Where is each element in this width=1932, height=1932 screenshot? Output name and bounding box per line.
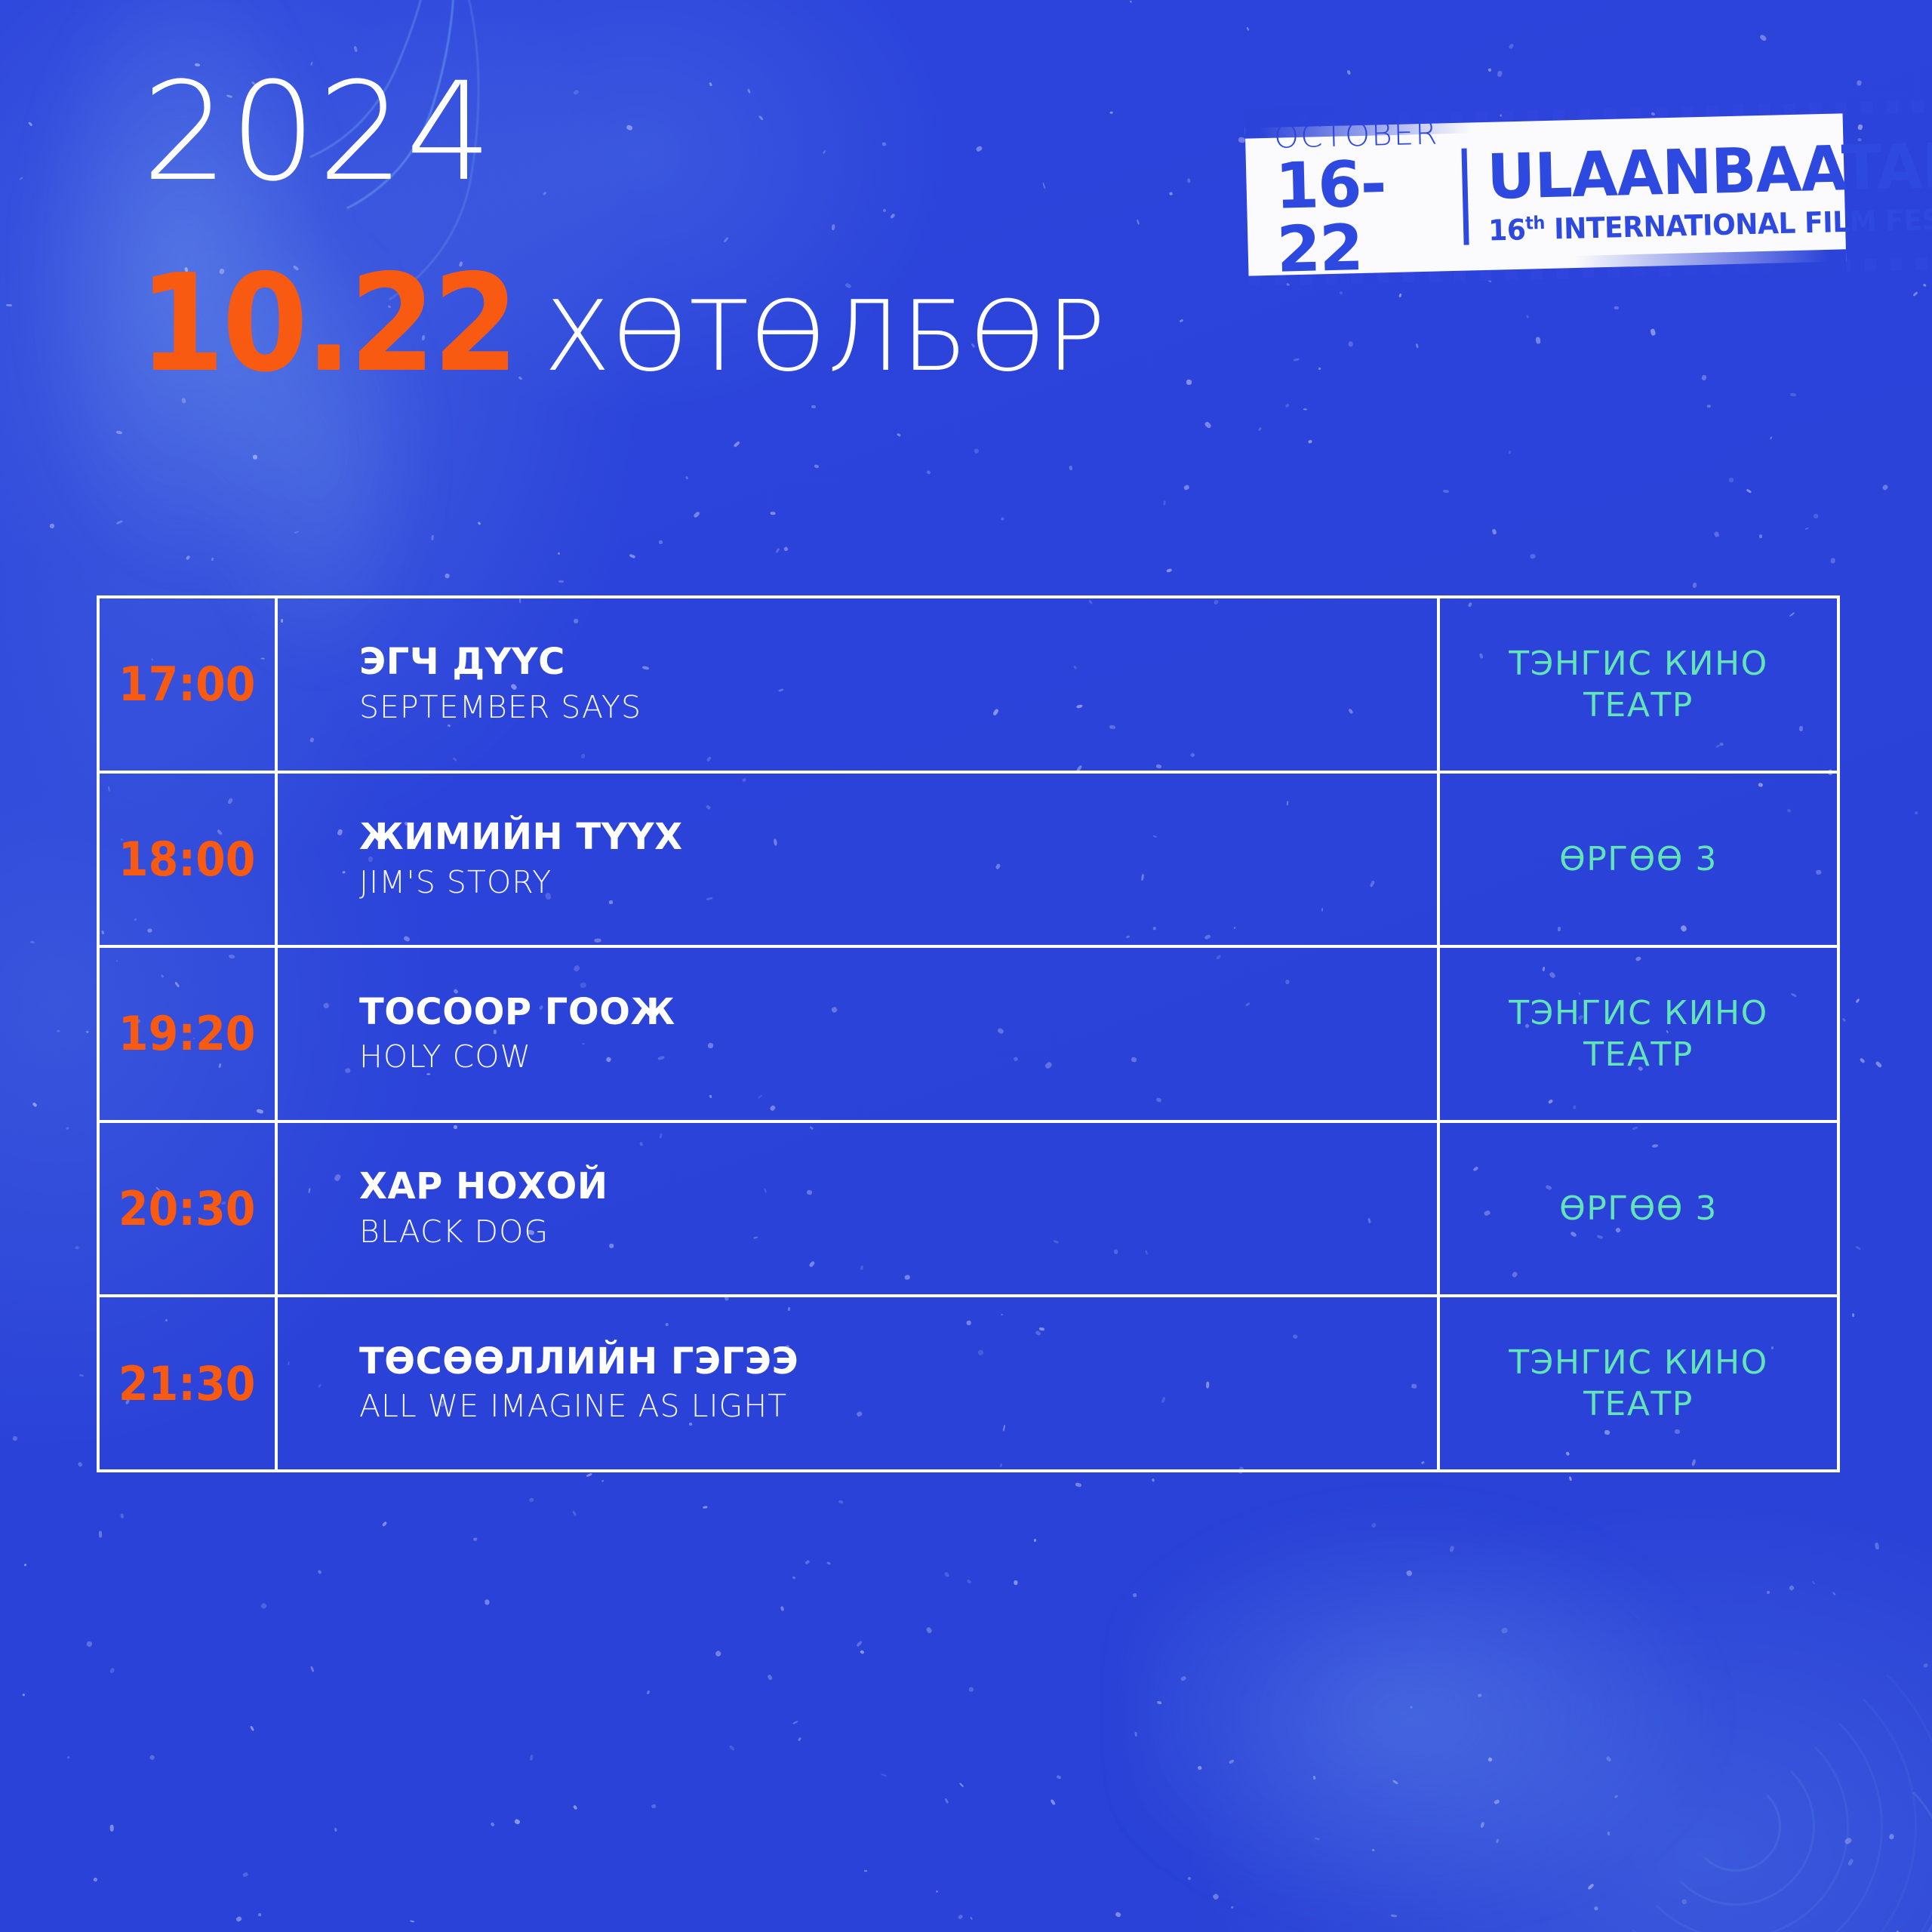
background-speck [79,1374,85,1377]
background-speck [856,1640,863,1647]
film-title-mn: ЖИМИЙН ТҮҮХ [359,817,1437,858]
background-speck [629,554,636,558]
background-speck [514,1819,521,1826]
logo-days: 16-22 [1275,150,1442,281]
schedule-time-cell: 21:30 [100,1297,278,1469]
background-speck [780,1606,784,1611]
background-speck [709,82,712,87]
background-speck [66,1127,69,1130]
background-speck [798,1737,801,1742]
background-speck [969,1687,974,1692]
background-speck [771,512,776,515]
film-sprocket-hole [1864,258,1876,271]
background-speck [75,1246,79,1249]
background-speck [1830,558,1835,564]
background-speck [1701,374,1707,380]
background-speck [242,1872,248,1877]
background-speck [1759,34,1767,42]
film-sprocket-hole [1886,100,1898,113]
background-speck [586,1473,592,1478]
background-speck [528,1497,534,1503]
background-speck [382,1521,388,1527]
background-speck [1497,70,1503,78]
background-speck [925,1626,932,1634]
table-row: 20:30ХАР НОХОЙBLACK DOGӨРГӨӨ 3 [100,1123,1837,1298]
film-strip-fade-left [1244,103,1472,138]
background-speck [57,1030,60,1032]
background-speck [1692,583,1697,589]
schedule-film-cell: ЖИМИЙН ТҮҮХJIM'S STORY [278,774,1437,946]
film-sprocket-hole [1890,257,1902,270]
venue-name: ТЭНГИС КИНО ТЕАТР [1509,643,1768,726]
schedule-time: 17:00 [118,657,256,712]
background-speck [1180,319,1184,323]
background-speck [881,142,886,146]
background-speck [235,1916,242,1923]
background-speck [792,1576,795,1579]
background-speck [601,1480,605,1482]
logo-subtitle-ordinal: 16 [1488,213,1526,247]
background-speck [1186,379,1192,385]
background-speck [1614,306,1619,309]
schedule-film-cell: ТОСООР ГООЖ HOLY COW [278,948,1437,1120]
background-speck [1443,490,1449,494]
background-speck [110,1825,114,1832]
poster-canvas: 2024 10.22 ХӨТӨЛБӨР OCTOBER 16-22 ULAANB… [0,0,1932,1932]
background-speck [93,1877,97,1881]
logo-name-block: ULAANBAATAR 16th INTERNATIONAL FILM FEST… [1487,134,1932,245]
background-speck [1650,328,1656,336]
background-speck [1115,1912,1122,1918]
background-speck [729,1745,735,1751]
background-speck [1509,451,1512,454]
background-speck [32,1102,38,1107]
film-sprocket-hole [1860,101,1872,114]
background-speck [926,470,931,475]
background-speck [1728,477,1734,483]
background-speck [975,145,983,152]
background-speck [1109,112,1112,114]
background-speck [573,1511,577,1516]
background-speck [1842,1017,1846,1022]
schedule-time: 21:30 [118,1356,256,1411]
background-speck [804,1560,810,1565]
schedule-venue-cell: ӨРГӨӨ 3 [1437,1123,1837,1295]
background-speck [1714,531,1720,537]
background-speck [758,115,764,121]
background-speck [260,1602,268,1610]
background-speck [747,89,751,94]
schedule-venue-cell: ТЭНГИС КИНО ТЕАТР [1437,948,1837,1120]
schedule-venue-cell: ӨРГӨӨ 3 [1437,774,1837,946]
schedule-film-cell: ТӨСӨӨЛЛИЙН ГЭГЭЭALL WE IMAGINE AS LIGHT [278,1297,1437,1469]
background-speck [723,237,729,243]
film-sprocket-hole [1912,100,1924,112]
background-speck [1349,341,1353,346]
film-title-mn: ЭГЧ ДҮҮС [359,642,1437,683]
film-title-mn: ТӨСӨӨЛЛИЙН ГЭГЭЭ [359,1342,1437,1383]
background-speck [945,1798,949,1804]
background-speck [573,1804,578,1810]
logo-subtitle-sup: th [1525,212,1545,234]
background-speck [734,441,740,448]
schedule-table: 17:00ЭГЧ ДҮҮСSEPTEMBER SAYSТЭНГИС КИНО Т… [97,595,1840,1472]
schedule-time-cell: 17:00 [100,598,278,771]
background-speck [86,1031,89,1034]
background-speck [1488,68,1492,72]
background-speck [1238,137,1245,143]
background-speck [1526,315,1530,318]
venue-name: ТЭНГИС КИНО ТЕАТР [1509,1342,1768,1425]
background-speck [1746,488,1752,493]
background-speck [958,1914,964,1920]
logo-divider [1462,149,1469,245]
background-speck [715,1650,722,1657]
background-speck [1163,500,1166,505]
background-speck [86,1641,93,1647]
schedule-time-cell: 18:00 [100,774,278,946]
background-speck [23,1694,25,1696]
background-speck [1346,69,1351,75]
background-speck [811,405,817,409]
film-sprocket-hole [1915,257,1927,269]
background-speck [1294,358,1300,361]
background-speck [831,224,835,231]
background-speck [334,1828,337,1832]
background-speck [1075,1482,1081,1487]
page-title-program-word: ХӨТӨЛБӨР [544,289,1106,386]
background-speck [783,546,788,552]
background-speck [693,511,700,518]
logo-date-block: OCTOBER 16-22 [1274,117,1442,281]
background-speck [529,1755,534,1761]
venue-name: ТЭНГИС КИНО ТЕАТР [1509,992,1768,1075]
film-strip-fade-right [1574,249,1847,286]
background-speck [1857,80,1862,86]
logo-city: ULAANBAATAR [1487,134,1932,209]
background-speck [1855,998,1860,1004]
film-title-en: JIM'S STORY [359,864,1437,901]
background-speck [970,1917,973,1920]
background-speck [1042,183,1046,189]
background-speck [685,476,688,480]
background-speck [1508,43,1514,50]
background-speck [860,1650,864,1654]
background-speck [1707,405,1711,408]
background-speck [1339,291,1343,295]
background-speck [1770,436,1772,439]
background-speck [485,1600,490,1605]
background-speck [410,1920,414,1923]
background-speck [1303,408,1307,410]
background-speck [121,1513,125,1518]
background-speck [66,1755,69,1759]
background-speck [149,1755,155,1761]
background-speck [864,1870,867,1872]
film-title-en: HOLY COW [359,1038,1437,1075]
background-speck [1057,1775,1062,1780]
background-speck [890,213,896,219]
background-speck [23,1564,26,1567]
background-speck [1882,485,1889,491]
background-speck [897,433,901,437]
background-speck [1137,220,1140,225]
background-speck [12,1435,17,1441]
background-speck [77,1462,83,1468]
background-speck [1258,427,1262,432]
schedule-time: 20:30 [118,1181,256,1236]
background-speck [1050,1799,1056,1806]
background-speck [792,1720,798,1724]
background-speck [651,1804,657,1809]
film-title-mn: ТОСООР ГООЖ [359,992,1437,1033]
schedule-time: 19:20 [118,1006,256,1061]
background-speck [1852,1313,1854,1317]
background-speck [1415,343,1419,349]
background-speck [1536,337,1541,343]
background-speck [1308,439,1312,444]
background-speck [1530,553,1536,558]
background-speck [1187,178,1191,183]
background-speck [1875,1061,1883,1069]
page-title-dateline: 10.22 ХӨТӨЛБӨР [139,257,1106,391]
background-speck [1860,1058,1865,1063]
background-speck [1492,528,1497,534]
background-speck [827,1561,831,1564]
background-speck [626,125,633,131]
background-speck [974,448,979,454]
schedule-time: 18:00 [118,832,256,887]
background-speck [959,1783,964,1787]
background-speck [1034,1539,1036,1542]
film-title-mn: ХАР НОХОЙ [359,1167,1437,1207]
background-speck [258,1913,262,1917]
background-speck [1183,485,1190,491]
background-speck [310,1666,314,1672]
background-speck [647,1690,650,1694]
schedule-film-cell: ЭГЧ ДҮҮСSEPTEMBER SAYS [278,598,1437,771]
background-speck [1813,513,1819,518]
background-speck [1285,403,1290,408]
background-speck [823,150,826,155]
page-title-year: 2024 [142,65,494,201]
background-speck [1204,421,1212,429]
festival-logo: OCTOBER 16-22 ULAANBAATAR 16th INTERNATI… [1244,104,1846,283]
background-speck [1804,527,1808,530]
background-speck [1246,27,1249,31]
background-speck [1130,1,1132,3]
film-title-en: ALL WE IMAGINE AS LIGHT [359,1388,1437,1425]
venue-name: ӨРГӨӨ 3 [1559,838,1718,880]
background-speck [659,540,663,544]
schedule-time-cell: 19:20 [100,948,278,1120]
background-speck [1915,811,1918,815]
background-speck [491,1822,495,1826]
venue-name: ӨРГӨӨ 3 [1559,1188,1718,1229]
background-speck [1913,291,1918,296]
background-speck [768,1674,773,1680]
background-speck [1069,466,1073,470]
background-swirl-bottom-right [1132,1472,1932,1932]
background-speck [936,1890,938,1893]
schedule-film-cell: ХАР НОХОЙBLACK DOG [278,1123,1437,1295]
table-row: 19:20ТОСООР ГООЖ HOLY COWТЭНГИС КИНО ТЕА… [100,948,1837,1123]
background-speck [967,1579,972,1584]
background-speck [703,1506,707,1509]
background-speck [1167,568,1173,573]
background-speck [99,1531,102,1537]
background-speck [943,1571,950,1578]
film-title-en: BLACK DOG [359,1214,1437,1251]
background-speck [1855,1245,1862,1251]
table-row: 18:00ЖИМИЙН ТҮҮХJIM'S STORYӨРГӨӨ 3 [100,774,1837,949]
background-speck [814,464,820,468]
background-speck [838,1500,843,1504]
background-speck [1001,518,1004,521]
background-speck [881,1774,887,1777]
background-speck [882,208,886,212]
background-speck [1790,393,1796,397]
background-speck [1398,294,1402,297]
page-title-date: 10.22 [139,257,516,391]
background-speck [317,1570,322,1575]
table-row: 21:30ТӨСӨӨЛЛИЙН ГЭГЭЭALL WE IMAGINE AS L… [100,1297,1837,1469]
background-speck [251,1726,255,1731]
schedule-venue-cell: ТЭНГИС КИНО ТЕАТР [1437,598,1837,771]
background-speck [1170,192,1173,195]
background-speck [1759,534,1762,538]
schedule-venue-cell: ТЭНГИС КИНО ТЕАТР [1437,1297,1837,1469]
film-title-en: SEPTEMBER SAYS [359,689,1437,726]
background-speck [109,1667,115,1674]
background-speck [1014,1580,1018,1586]
table-row: 17:00ЭГЧ ДҮҮСSEPTEMBER SAYSТЭНГИС КИНО Т… [100,598,1837,774]
background-speck [473,1537,477,1540]
background-speck [30,940,35,943]
background-speck [1318,368,1321,371]
background-speck [775,548,780,553]
background-speck [1923,284,1927,287]
background-speck [1857,124,1863,130]
schedule-time-cell: 20:30 [100,1123,278,1295]
